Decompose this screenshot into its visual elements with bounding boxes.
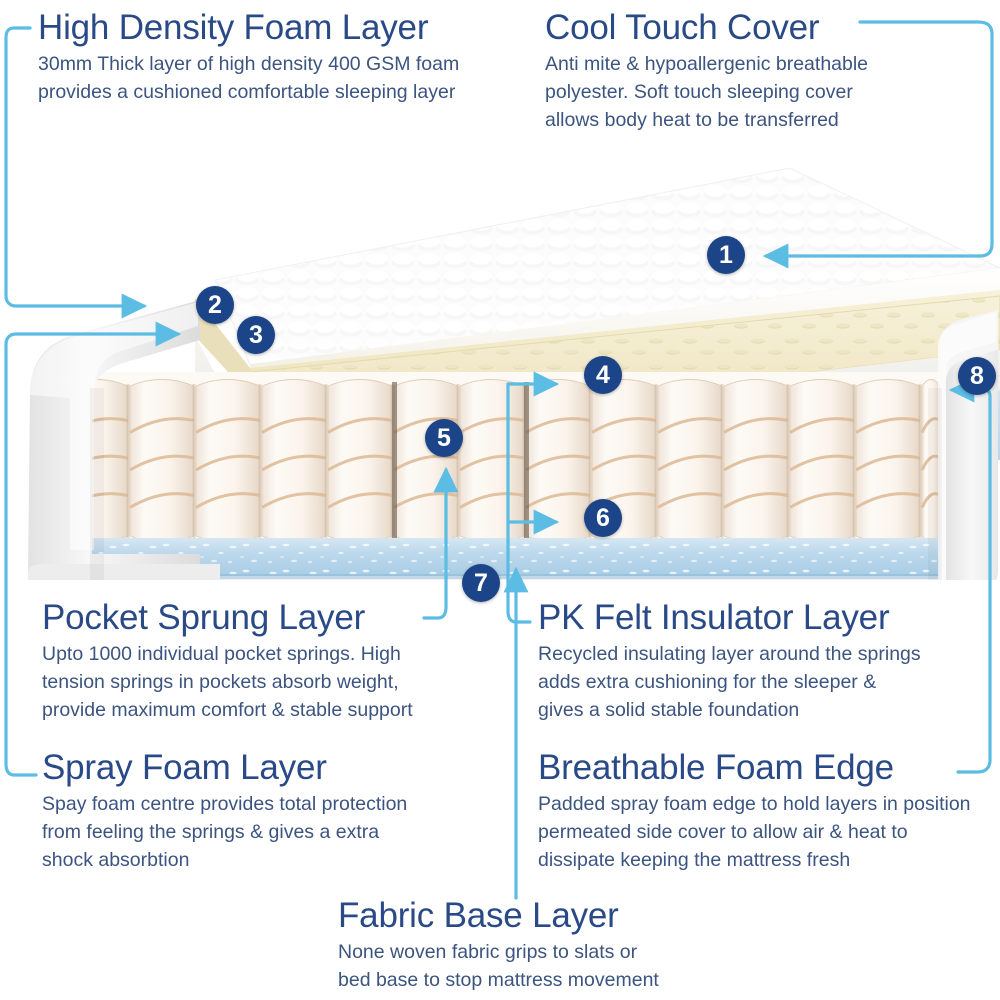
- badge-7[interactable]: 7: [462, 564, 500, 602]
- badge-3[interactable]: 3: [237, 316, 275, 354]
- callout-title-pocket-sprung: Pocket Sprung Layer: [42, 598, 413, 638]
- callout-body-high-density-foam: 30mm Thick layer of high density 400 GSM…: [38, 50, 459, 106]
- callout-title-pk-felt: PK Felt Insulator Layer: [538, 598, 921, 638]
- breathable-foam-edge-right: [938, 310, 998, 580]
- callout-title-breathable-foam-edge: Breathable Foam Edge: [538, 748, 971, 788]
- callout-title-spray-foam: Spray Foam Layer: [42, 748, 407, 788]
- callout-cool-touch-cover: Cool Touch Cover Anti mite & hypoallerge…: [545, 8, 868, 134]
- callout-high-density-foam-layer: High Density Foam Layer 30mm Thick layer…: [38, 8, 459, 106]
- badge-5[interactable]: 5: [425, 419, 463, 457]
- callout-body-cool-touch-cover: Anti mite & hypoallergenic breathable po…: [545, 50, 868, 134]
- callout-body-fabric-base: None woven fabric grips to slats or bed …: [338, 938, 659, 994]
- badge-2[interactable]: 2: [196, 286, 234, 324]
- badge-1[interactable]: 1: [707, 236, 745, 274]
- pocket-sprung-layer: [60, 372, 945, 544]
- callout-title-high-density-foam: High Density Foam Layer: [38, 8, 459, 48]
- callout-fabric-base-layer: Fabric Base Layer None woven fabric grip…: [338, 896, 659, 994]
- callout-pk-felt-insulator-layer: PK Felt Insulator Layer Recycled insulat…: [538, 598, 921, 724]
- callout-spray-foam-layer: Spray Foam Layer Spay foam centre provid…: [42, 748, 407, 874]
- badge-6[interactable]: 6: [584, 499, 622, 537]
- badge-8[interactable]: 8: [958, 357, 996, 395]
- callout-breathable-foam-edge: Breathable Foam Edge Padded spray foam e…: [538, 748, 971, 874]
- callout-body-spray-foam: Spay foam centre provides total protecti…: [42, 790, 407, 874]
- callout-body-pocket-sprung: Upto 1000 individual pocket springs. Hig…: [42, 640, 413, 724]
- badge-4[interactable]: 4: [584, 356, 622, 394]
- callout-title-fabric-base: Fabric Base Layer: [338, 896, 659, 936]
- infographic-canvas: 1 2 3 4 5 6 7 8 High Density Foam Layer …: [0, 0, 1000, 1000]
- mattress-cutaway-illustration: [0, 150, 1000, 580]
- callout-body-pk-felt: Recycled insulating layer around the spr…: [538, 640, 921, 724]
- callout-pocket-sprung-layer: Pocket Sprung Layer Upto 1000 individual…: [42, 598, 413, 724]
- callout-title-cool-touch-cover: Cool Touch Cover: [545, 8, 868, 48]
- connector-pocket-sprung-stub: [14, 598, 36, 625]
- callout-body-breathable-foam-edge: Padded spray foam edge to hold layers in…: [538, 790, 971, 874]
